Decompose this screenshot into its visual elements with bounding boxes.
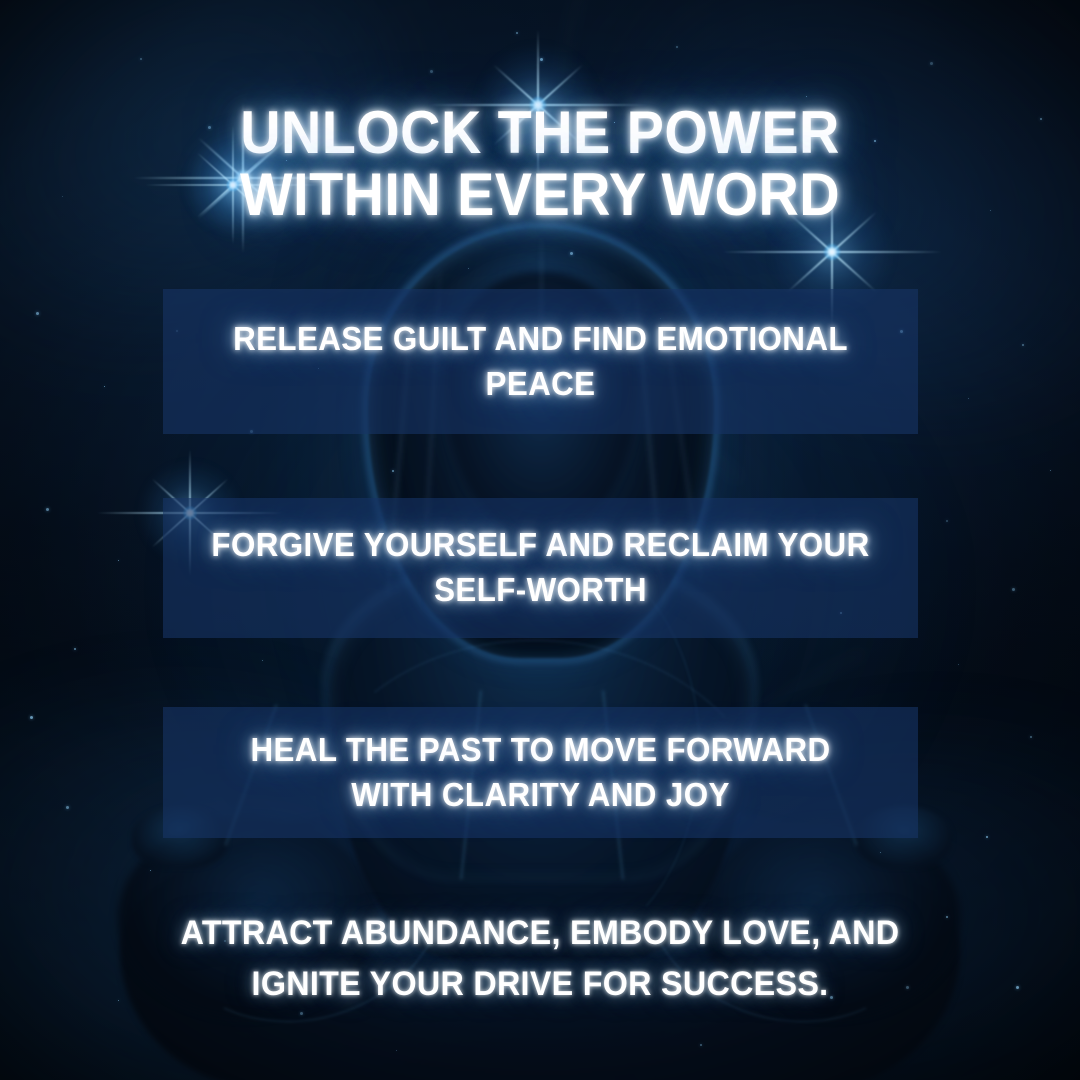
benefit-band-1-line-2: PEACE: [182, 362, 899, 407]
footer-tagline: ATTRACT ABUNDANCE, EMBODY LOVE, AND IGNI…: [27, 908, 1053, 1010]
benefit-band-2-line-2: SELF-WORTH: [182, 568, 899, 613]
benefit-band-1-line-1: RELEASE GUILT AND FIND EMOTIONAL: [182, 317, 899, 362]
poster-content: UNLOCK THE POWER WITHIN EVERY WORD RELEA…: [0, 0, 1080, 1080]
page-title-line-2: WITHIN EVERY WORD: [38, 164, 1042, 226]
benefit-band-3-line-2: WITH CLARITY AND JOY: [182, 773, 899, 818]
benefit-band-2: FORGIVE YOURSELF AND RECLAIM YOUR SELF-W…: [163, 498, 918, 638]
benefit-band-3-text: HEAL THE PAST TO MOVE FORWARD WITH CLARI…: [182, 728, 899, 817]
benefit-band-2-line-1: FORGIVE YOURSELF AND RECLAIM YOUR: [182, 523, 899, 568]
benefit-band-3-line-1: HEAL THE PAST TO MOVE FORWARD: [182, 728, 899, 773]
benefit-band-1-text: RELEASE GUILT AND FIND EMOTIONAL PEACE: [182, 317, 899, 406]
poster-canvas: UNLOCK THE POWER WITHIN EVERY WORD RELEA…: [0, 0, 1080, 1080]
benefit-band-2-text: FORGIVE YOURSELF AND RECLAIM YOUR SELF-W…: [182, 523, 899, 612]
page-title-line-1: UNLOCK THE POWER: [38, 102, 1042, 164]
footer-tagline-line-2: IGNITE YOUR DRIVE FOR SUCCESS.: [27, 959, 1053, 1010]
footer-tagline-line-1: ATTRACT ABUNDANCE, EMBODY LOVE, AND: [27, 908, 1053, 959]
benefit-band-1: RELEASE GUILT AND FIND EMOTIONAL PEACE: [163, 289, 918, 434]
page-title: UNLOCK THE POWER WITHIN EVERY WORD: [38, 102, 1042, 226]
benefit-band-3: HEAL THE PAST TO MOVE FORWARD WITH CLARI…: [163, 707, 918, 838]
